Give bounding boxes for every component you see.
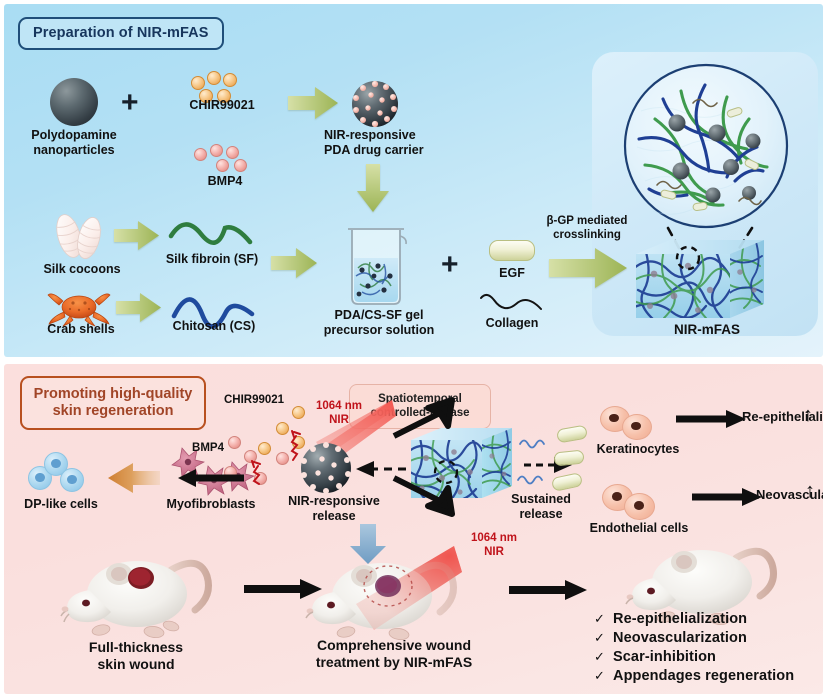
- green-arrow-crosslinking: [549, 246, 627, 290]
- label-nir-mfas-product: NIR-mFAS: [652, 322, 762, 338]
- endothelial-cells-icon: [602, 484, 660, 520]
- silk-cocoons-icon: [49, 210, 107, 262]
- list-item: ✓ Re-epithelialization: [594, 611, 794, 627]
- label-chir99021: CHIR99021: [172, 98, 272, 113]
- check-icon: ✓: [594, 649, 605, 665]
- plus-sign-2: +: [441, 250, 459, 280]
- panel-preparation: Preparation of NIR-mFAS Polydopamine nan…: [4, 4, 823, 357]
- outcome-checklist: ✓ Re-epithelialization ✓ Neovascularizat…: [594, 611, 794, 684]
- check-icon: ✓: [594, 630, 605, 646]
- list-item: ✓ Scar-inhibition: [594, 649, 794, 665]
- label-bmp4-release: BMP4: [180, 442, 236, 456]
- label-egf: EGF: [484, 266, 540, 281]
- green-arrow-down-to-beaker: [356, 164, 390, 212]
- silk-fibroin-chain-icon: [168, 218, 254, 252]
- plus-sign-1: +: [121, 88, 139, 118]
- label-polydopamine-nanoparticles: Polydopamine nanoparticles: [10, 128, 138, 158]
- label-chir99021-release: CHIR99021: [208, 394, 300, 408]
- graphical-abstract-figure: Preparation of NIR-mFAS Polydopamine nan…: [0, 0, 827, 698]
- check-icon: ✓: [594, 611, 605, 627]
- label-nir-responsive-release: NIR-responsive release: [280, 494, 388, 524]
- green-arrow-crab-to-cs: [116, 292, 161, 323]
- keratinocyte-cells-icon: [600, 406, 658, 440]
- up-arrow-neovascularization: ↑: [805, 480, 815, 504]
- green-arrow-to-beaker: [271, 247, 317, 279]
- black-arrow-to-keratinocytes: [394, 400, 466, 438]
- hydrogel-network-magnifier: [621, 61, 791, 231]
- mouse-nir-mfas-treatment: [304, 544, 464, 648]
- collagen-strand-icon: [478, 292, 544, 316]
- label-gel-precursor-solution: PDA/CS-SF gel precursor solution: [322, 308, 436, 338]
- label-nir-responsive-pda-drug-carrier: NIR-responsive PDA drug carrier: [324, 128, 428, 158]
- panel-regeneration-title: Promoting high-quality skin regeneration: [20, 376, 206, 430]
- polydopamine-nanoparticle-icon: [50, 78, 98, 126]
- label-dp-like-cells: DP-like cells: [9, 497, 113, 512]
- outcome-label: Appendages regeneration: [613, 668, 794, 684]
- orange-arrow-to-dp-cells: [108, 462, 160, 494]
- label-nir-1064nm-bottom: 1064 nm NIR: [456, 532, 532, 559]
- label-sustained-release: Sustained release: [489, 492, 593, 522]
- bmp4-molecule-cluster: [194, 142, 256, 176]
- crab-shell-icon: [46, 285, 112, 327]
- green-arrow-cocoon-to-sf: [114, 220, 159, 251]
- outcome-label: Scar-inhibition: [613, 649, 716, 665]
- green-arrow-to-pda-carrier: [288, 86, 338, 120]
- list-item: ✓ Neovascularization: [594, 630, 794, 646]
- black-arrow-re-epithelialization: [676, 410, 746, 428]
- label-full-thickness-skin-wound: Full-thickness skin wound: [46, 639, 226, 672]
- nir-responsive-carrier-sphere: [300, 442, 352, 494]
- mouse-full-thickness-wound: [59, 542, 219, 646]
- outcome-label: Neovascularization: [613, 630, 747, 646]
- label-collagen: Collagen: [472, 316, 552, 331]
- label-silk-cocoons: Silk cocoons: [32, 262, 132, 277]
- chitosan-chain-icon: [170, 286, 256, 322]
- black-arrow-treatment-to-outcome: [509, 580, 587, 600]
- check-icon: ✓: [594, 668, 605, 684]
- gel-precursor-beaker-icon: [340, 224, 412, 308]
- dp-like-cells-icon: [26, 452, 92, 496]
- label-myofibroblasts: Myofibroblasts: [152, 497, 270, 512]
- outcome-label: Re-epithelialization: [613, 611, 747, 627]
- list-item: ✓ Appendages regeneration: [594, 668, 794, 684]
- black-arrow-neovascularization: [692, 488, 762, 506]
- egf-capsule-released-1: [556, 425, 588, 444]
- panel-preparation-title: Preparation of NIR-mFAS: [18, 17, 224, 50]
- label-bgp-crosslinking: β-GP mediated crosslinking: [532, 215, 642, 242]
- label-keratinocytes: Keratinocytes: [582, 442, 694, 457]
- nir-mfas-hydrogel-block: [632, 238, 782, 326]
- label-crab-shells: Crab shells: [33, 322, 129, 337]
- label-bmp4: BMP4: [182, 174, 268, 189]
- label-nir-1064nm-top: 1064 nm NIR: [300, 400, 378, 427]
- panel-skin-regeneration: Promoting high-quality skin regeneration…: [4, 364, 823, 694]
- black-arrow-to-endothelial-cells: [394, 476, 466, 514]
- label-chitosan: Chitosan (CS): [162, 319, 266, 334]
- label-silk-fibroin: Silk fibroin (SF): [154, 252, 270, 267]
- black-arrow-to-myofibroblasts: [178, 469, 244, 487]
- nir-responsive-pda-drug-carrier-icon: [351, 80, 399, 128]
- egf-capsule-icon: [489, 240, 535, 261]
- egf-capsule-released-2: [553, 449, 584, 466]
- label-comprehensive-treatment: Comprehensive wound treatment by NIR-mFA…: [294, 637, 494, 670]
- up-arrow-re-epithelialization: ↑: [803, 404, 813, 428]
